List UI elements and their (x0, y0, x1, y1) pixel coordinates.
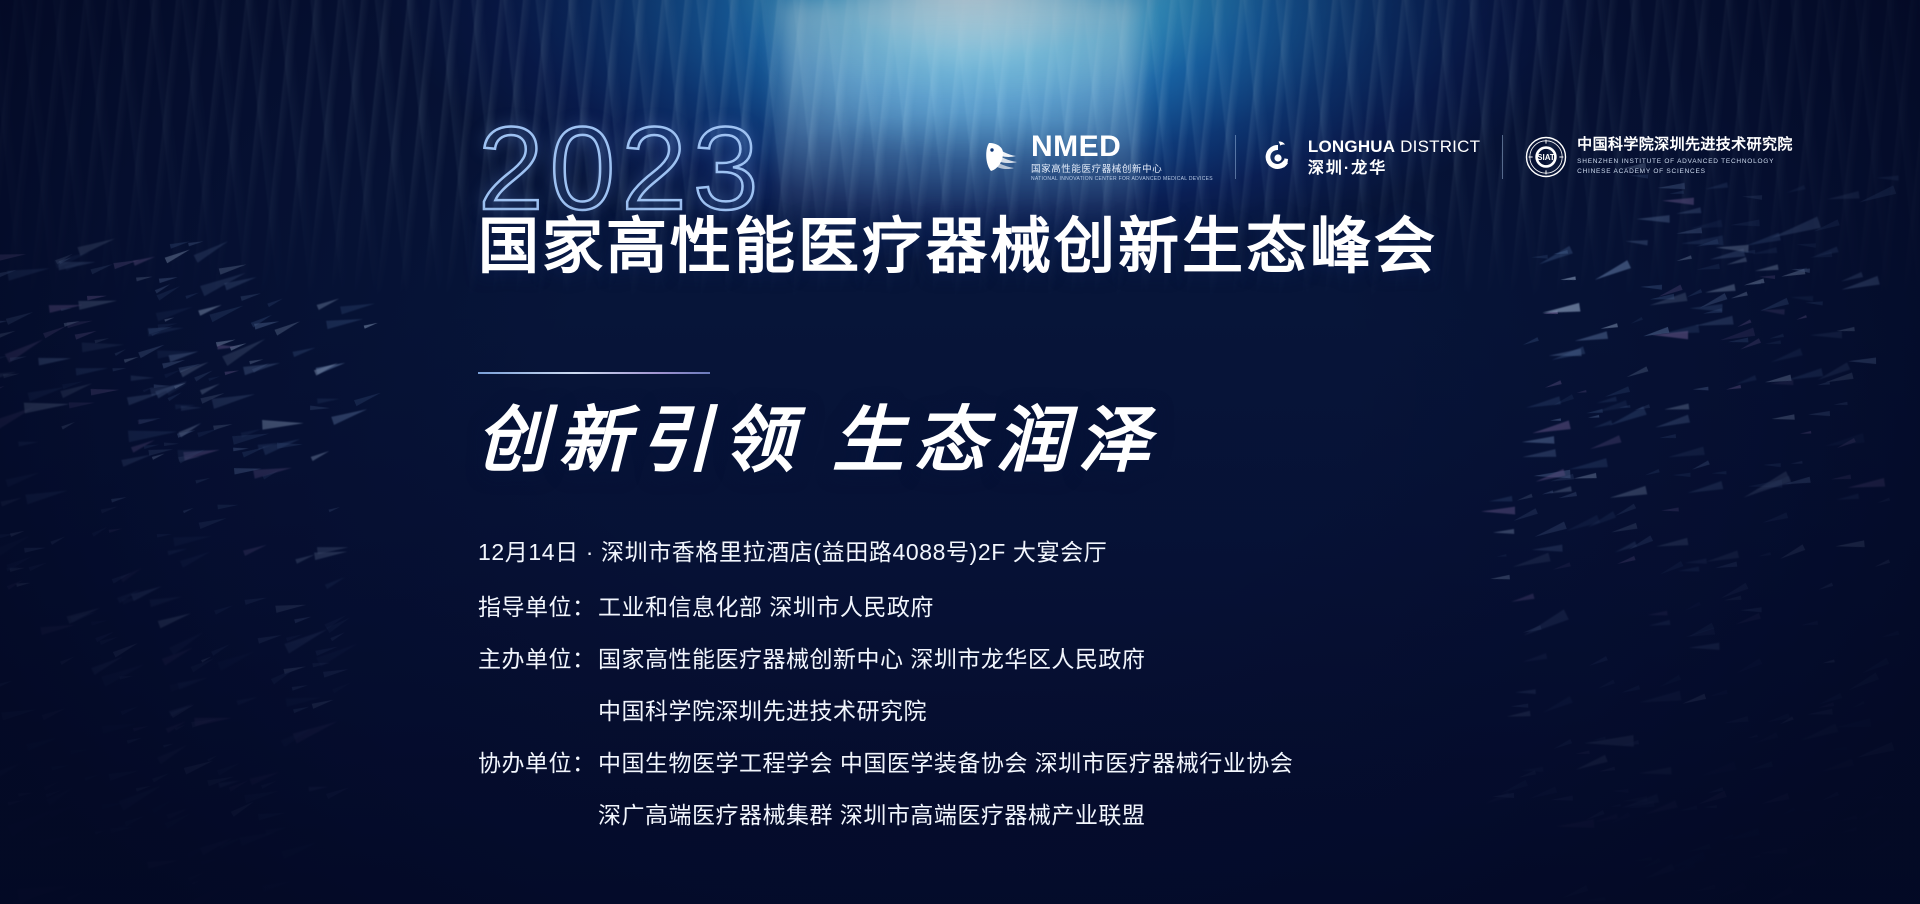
page-title: 国家高性能医疗器械创新生态峰会 (478, 212, 1438, 280)
longhua-name-cn: 深圳·龙华 (1308, 161, 1480, 177)
date-venue-line: 12月14日 · 深圳市香格里拉酒店(益田路4088号)2F 大宴会厅 (478, 533, 1107, 567)
organizer-value: 深广高端医疗器械集群 深圳市高端医疗器械产业联盟 (598, 796, 1145, 830)
sponsor-logo-row: NMED 国家高性能医疗器械创新中心 NATIONAL INNOVATION C… (960, 128, 1815, 186)
logo-nmed: NMED 国家高性能医疗器械创新中心 NATIONAL INNOVATION C… (960, 131, 1235, 183)
longhua-name-en: LONGHUA DISTRICT (1308, 137, 1480, 157)
nmed-emblem-icon (982, 137, 1022, 177)
organizer-row: 指导单位：中国科学院深圳先进技术研究院 (478, 692, 1293, 726)
logo-longhua-district: LONGHUA DISTRICT 深圳·龙华 (1236, 131, 1502, 183)
nmed-name-cn: 国家高性能医疗器械创新中心 (1031, 165, 1213, 175)
organizer-label: 指导单位： (478, 588, 598, 622)
organizer-row: 协办单位：中国生物医学工程学会 中国医学装备协会 深圳市医疗器械行业协会 (478, 744, 1293, 778)
siat-name-en-line2: CHINESE ACADEMY OF SCIENCES (1577, 167, 1793, 177)
longhua-emblem-icon (1258, 137, 1298, 177)
slogan-calligraphy: 创新引领 生态润泽 (476, 398, 1160, 484)
logo-siat-cas: SIAT 中国科学院深圳先进技术研究院 SHENZHEN INSTITUTE O… (1503, 131, 1815, 183)
organizer-value: 中国科学院深圳先进技术研究院 (598, 692, 927, 726)
title-divider (478, 372, 710, 374)
svg-text:SIAT: SIAT (1537, 153, 1555, 162)
poster-content: 2023 NMED 国家高性能医疗器械创新中心 NATIONAL INNO (0, 0, 1920, 904)
organizer-row: 指导单位：工业和信息化部 深圳市人民政府 (478, 588, 1293, 622)
siat-wordmark: 中国科学院深圳先进技术研究院 SHENZHEN INSTITUTE OF ADV… (1577, 137, 1793, 177)
event-poster: 2023 NMED 国家高性能医疗器械创新中心 NATIONAL INNO (0, 0, 1920, 904)
organizer-label: 协办单位： (478, 744, 598, 778)
organizer-row: 主办单位：国家高性能医疗器械创新中心 深圳市龙华区人民政府 (478, 640, 1293, 674)
siat-seal-icon: SIAT (1525, 136, 1567, 178)
organizer-row: 指导单位：深广高端医疗器械集群 深圳市高端医疗器械产业联盟 (478, 796, 1293, 830)
nmed-wordmark: NMED 国家高性能医疗器械创新中心 NATIONAL INNOVATION C… (1031, 132, 1213, 182)
organizer-list: 指导单位：工业和信息化部 深圳市人民政府主办单位：国家高性能医疗器械创新中心 深… (478, 588, 1293, 830)
siat-name-cn: 中国科学院深圳先进技术研究院 (1577, 137, 1793, 152)
organizer-value: 中国生物医学工程学会 中国医学装备协会 深圳市医疗器械行业协会 (598, 744, 1293, 778)
nmed-name-en: NMED (1031, 132, 1213, 162)
siat-name-en-line1: SHENZHEN INSTITUTE OF ADVANCED TECHNOLOG… (1577, 157, 1793, 167)
longhua-wordmark: LONGHUA DISTRICT 深圳·龙华 (1308, 137, 1480, 177)
organizer-label: 主办单位： (478, 640, 598, 674)
longhua-name-en-light: DISTRICT (1395, 137, 1480, 156)
organizer-value: 工业和信息化部 深圳市人民政府 (598, 588, 934, 622)
year-headline: 2023 (478, 110, 765, 228)
organizer-value: 国家高性能医疗器械创新中心 深圳市龙华区人民政府 (598, 640, 1145, 674)
nmed-name-cn-sub: NATIONAL INNOVATION CENTER FOR ADVANCED … (1031, 177, 1213, 182)
longhua-name-en-bold: LONGHUA (1308, 137, 1395, 156)
